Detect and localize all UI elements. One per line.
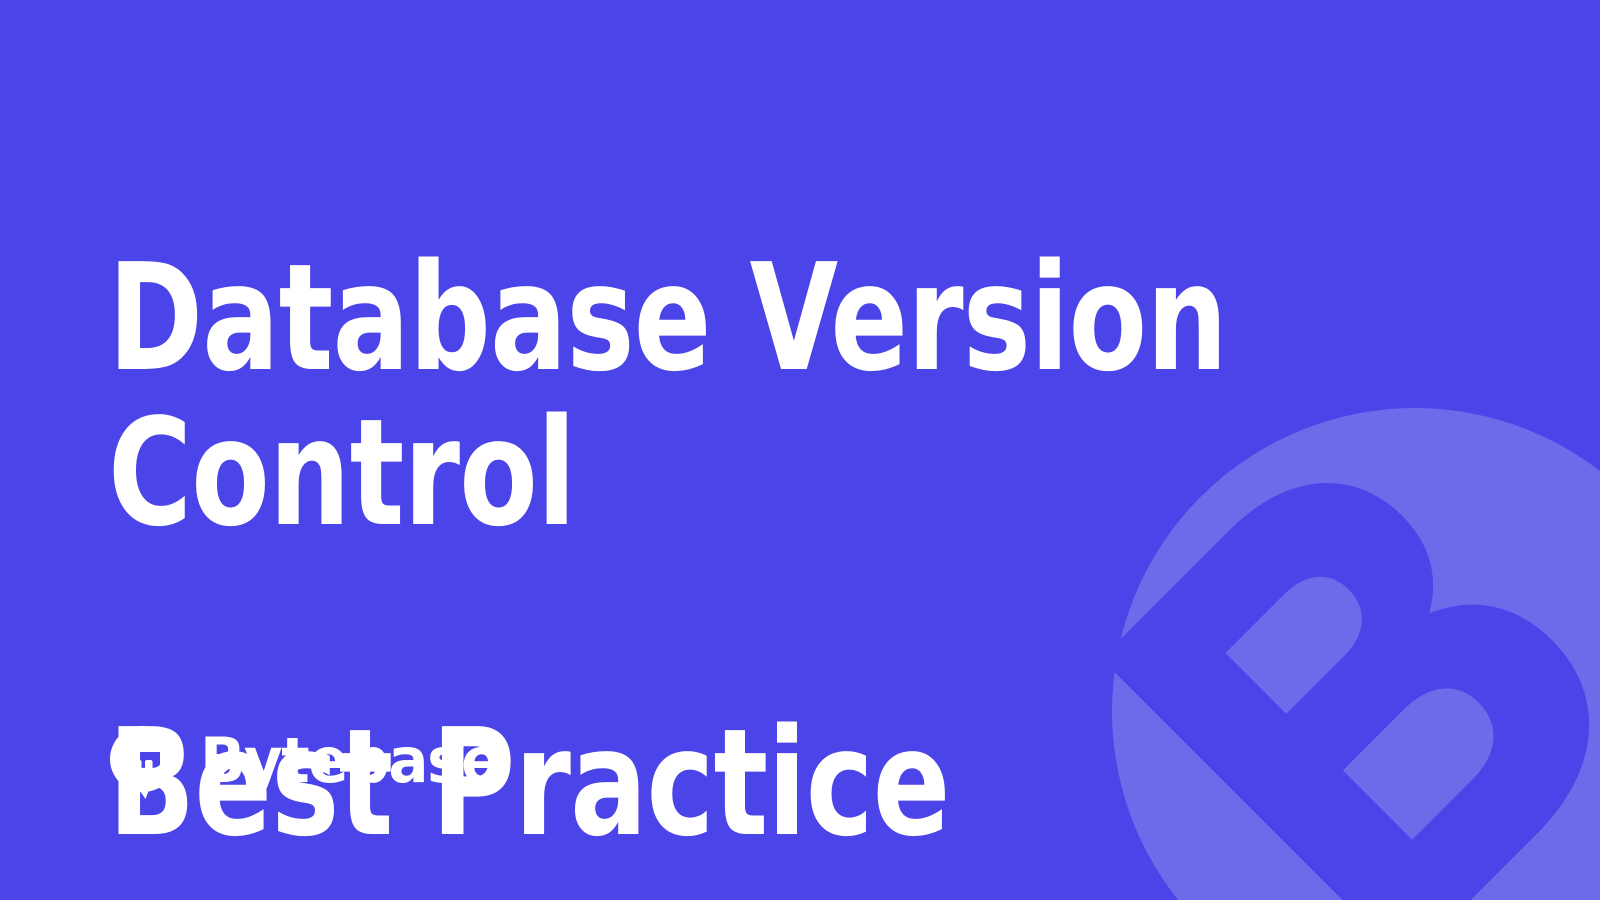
brand-lockup: Bytebase — [104, 722, 513, 800]
brand-name: Bytebase — [200, 730, 500, 792]
bytebase-logo-icon — [104, 722, 182, 800]
page-title-line-1: Database Version Control — [108, 241, 1278, 551]
og-card: Database Version Control Best Practice — [0, 0, 1600, 900]
